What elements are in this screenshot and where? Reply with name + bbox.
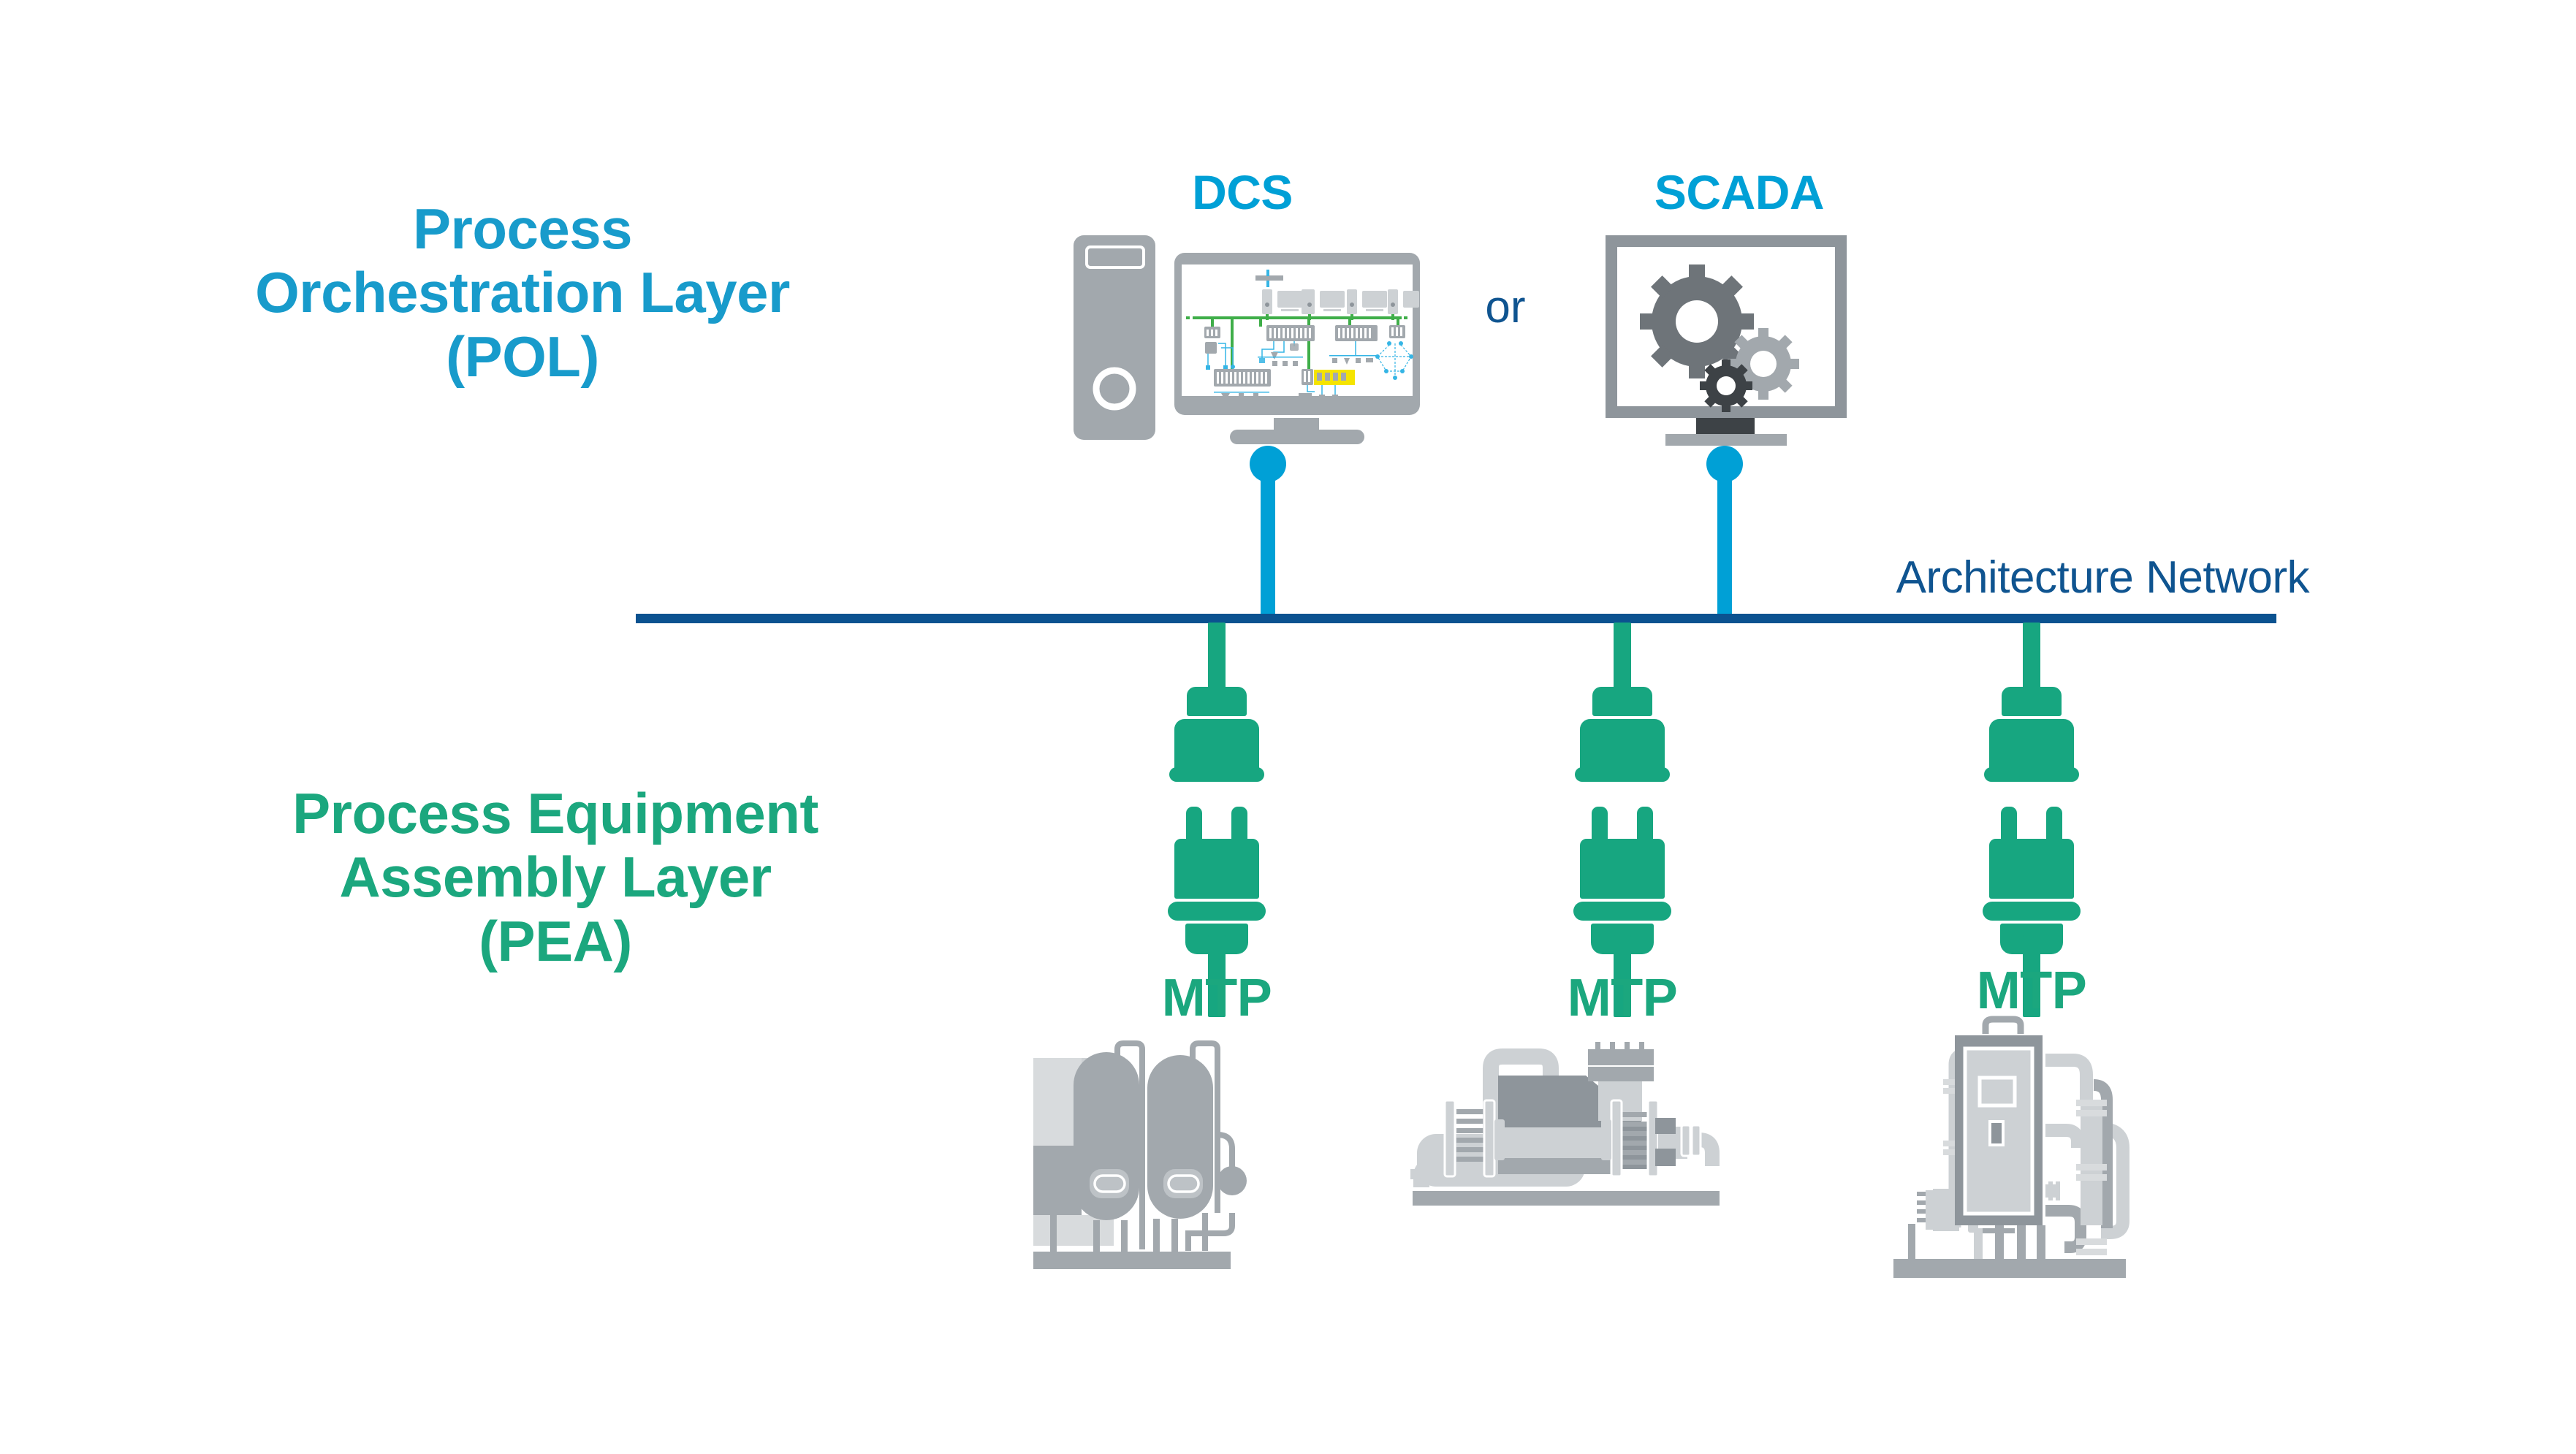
dcs-computer-icon bbox=[1071, 234, 1421, 453]
socket-cap bbox=[1592, 687, 1652, 716]
skid-cabinet-unit-icon bbox=[1882, 1012, 2152, 1290]
scada-monitor-icon bbox=[1604, 234, 1874, 446]
plug-collar bbox=[1168, 902, 1266, 921]
scada-pin-dot-icon bbox=[1706, 446, 1743, 482]
plug-body bbox=[1580, 839, 1665, 899]
or-separator-text: or bbox=[1432, 281, 1578, 333]
architecture-network-label: Architecture Network bbox=[1812, 552, 2309, 604]
plug-socket-icon-3 bbox=[1937, 623, 2127, 1017]
plug-collar bbox=[1983, 902, 2081, 921]
dcs-pin-stem bbox=[1261, 468, 1275, 617]
socket-cord-upper bbox=[2023, 623, 2040, 690]
desktop-computer-with-tower-icon bbox=[1071, 234, 1421, 453]
scada-pin-stem bbox=[1717, 468, 1732, 617]
monitor-with-gears-icon bbox=[1604, 234, 1874, 446]
process-tanks-icon bbox=[1023, 1038, 1264, 1286]
mtp-label-2: MTP bbox=[1505, 968, 1739, 1028]
plug-body bbox=[1174, 839, 1259, 899]
scada-title: SCADA bbox=[1593, 164, 1885, 220]
dcs-title: DCS bbox=[1096, 164, 1388, 220]
plug-collar bbox=[1573, 902, 1671, 921]
layer-label-pea: Process Equipment Assembly Layer (PEA) bbox=[241, 782, 870, 973]
layer-label-pol: Process Orchestration Layer (POL) bbox=[219, 197, 826, 389]
socket-cap bbox=[2002, 687, 2062, 716]
socket-cap bbox=[1187, 687, 1247, 716]
socket-cord-upper bbox=[1614, 623, 1631, 690]
dcs-network-connection-pin bbox=[1250, 446, 1286, 617]
dcs-pin-dot-icon bbox=[1250, 446, 1286, 482]
plug-body bbox=[1989, 839, 2074, 899]
plug-socket-icon-1 bbox=[1122, 623, 1312, 1017]
scada-network-connection-pin bbox=[1706, 446, 1743, 617]
socket-foot bbox=[1575, 767, 1670, 782]
plug-socket-icon-2 bbox=[1527, 623, 1717, 1017]
pump-skid-icon bbox=[1392, 1023, 1721, 1249]
socket-foot bbox=[1169, 767, 1264, 782]
mtp-label-1: MTP bbox=[1100, 968, 1334, 1028]
socket-foot bbox=[1984, 767, 2079, 782]
socket-cord-upper bbox=[1208, 623, 1226, 690]
